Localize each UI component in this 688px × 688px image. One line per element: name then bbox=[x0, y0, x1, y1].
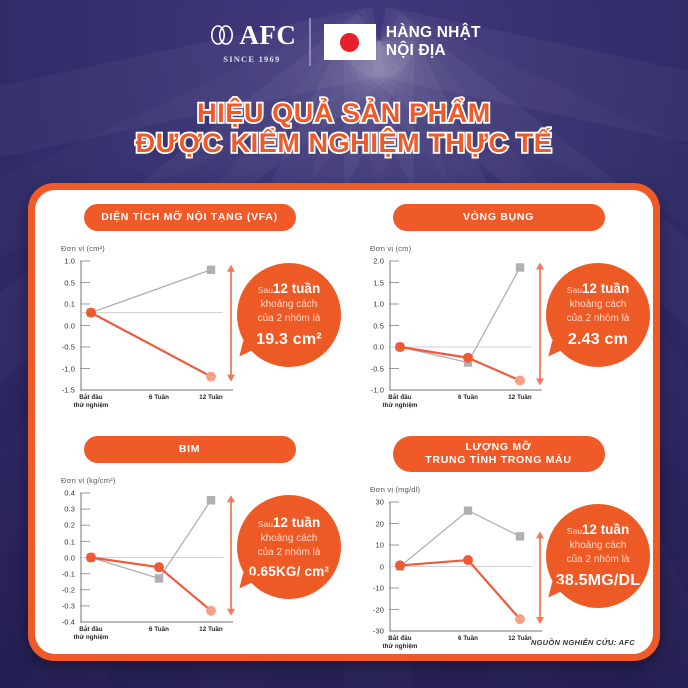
callout-line2: khoảng cách bbox=[567, 298, 630, 312]
charts-card: DIỆN TÍCH MỠ NỘI TẠNG (VFA)Đơn vị (cm²)1… bbox=[28, 183, 660, 661]
callout-line2: khoảng cách bbox=[556, 539, 641, 553]
chart-panel-1: DIỆN TÍCH MỠ NỘI TẠNG (VFA)Đơn vị (cm²)1… bbox=[35, 190, 344, 422]
chart-unit-label: Đơn vị (mg/dl) bbox=[370, 485, 643, 494]
japan-flag-icon bbox=[324, 24, 376, 60]
callout-line3: của 2 nhóm là bbox=[249, 546, 329, 560]
callout-line2: khoảng cách bbox=[256, 298, 322, 312]
x-axis-tick-line2: thử nghiệm bbox=[64, 402, 118, 410]
x-axis-tick-line1: 12 Tuần bbox=[184, 626, 238, 634]
x-axis-tick-line1: 6 Tuần bbox=[441, 635, 495, 643]
page-title: HIỆU QUẢ SẢN PHẨM ĐƯỢC KIỂM NGHIỆM THỰC … bbox=[0, 98, 688, 158]
x-axis-tick-label: 6 Tuần bbox=[132, 394, 186, 402]
japan-origin-line2: NỘI ĐỊA bbox=[386, 42, 446, 59]
charts-grid: DIỆN TÍCH MỠ NỘI TẠNG (VFA)Đơn vị (cm²)1… bbox=[35, 190, 653, 654]
chart-panel-4: LƯỢNG MỠTRUNG TÍNH TRONG MÁUĐơn vị (mg/d… bbox=[344, 422, 653, 654]
x-axis-tick-line1: 6 Tuần bbox=[132, 394, 186, 402]
chart-plot-area: 1.00.50.10.0-0.5-1.0-1.5Bắt đầuthử nghiệ… bbox=[51, 255, 321, 405]
callout-prefix: Sau bbox=[258, 519, 273, 529]
result-callout-bubble: Sau12 tuầnkhoảng cáchcủa 2 nhóm là0.65KG… bbox=[237, 495, 341, 599]
afc-logo: AFC SINCE 1969 bbox=[207, 21, 309, 64]
callout-prefix: Sau bbox=[567, 526, 582, 536]
callout-weeks: 12 tuần bbox=[582, 281, 629, 296]
chart-plot-area: 3020100-10-20-30Bắt đầuthử nghiệm6 Tuần1… bbox=[360, 496, 630, 646]
x-axis-tick-label: 12 Tuần bbox=[184, 394, 238, 402]
afc-monogram-icon bbox=[207, 21, 237, 51]
x-axis-tick-label: Bắt đầuthử nghiệm bbox=[64, 626, 118, 642]
x-axis-tick-line1: 12 Tuần bbox=[184, 394, 238, 402]
result-callout-bubble: Sau12 tuầnkhoảng cáchcủa 2 nhóm là38.5MG… bbox=[546, 504, 650, 608]
chart-title-pill: DIỆN TÍCH MỠ NỘI TẠNG (VFA) bbox=[84, 204, 296, 231]
callout-value: 19.3 cm² bbox=[256, 329, 322, 352]
x-axis-tick-label: 6 Tuần bbox=[441, 635, 495, 643]
x-axis-tick-line2: thử nghiệm bbox=[64, 634, 118, 642]
chart-title-line1: LƯỢNG MỠ bbox=[403, 441, 595, 454]
brand-header: AFC SINCE 1969 HÀNG NHẬT NỘI ĐỊA bbox=[0, 8, 688, 76]
x-axis-tick-label: 6 Tuần bbox=[132, 626, 186, 634]
page-title-line1: HIỆU QUẢ SẢN PHẨM bbox=[0, 98, 688, 128]
chart-plot-area: 2.01.51.00.50.0-0.5-1.0Bắt đầuthử nghiệm… bbox=[360, 255, 630, 405]
chart-panel-2: VÒNG BỤNGĐơn vị (cm)2.01.51.00.50.0-0.5-… bbox=[344, 190, 653, 422]
japan-origin-label: HÀNG NHẬT NỘI ĐỊA bbox=[386, 24, 481, 61]
chart-unit-label: Đơn vị (cm²) bbox=[61, 244, 334, 253]
callout-prefix: Sau bbox=[567, 285, 582, 295]
x-axis-tick-line1: 6 Tuần bbox=[132, 626, 186, 634]
callout-line3: của 2 nhóm là bbox=[556, 553, 641, 567]
chart-unit-label: Đơn vị (cm) bbox=[370, 244, 643, 253]
x-axis-tick-line1: Bắt đầu bbox=[64, 394, 118, 402]
chart-plot-area: 0.40.30.20.10.0-0.1-0.2-0.3-0.4Bắt đầuth… bbox=[51, 487, 321, 637]
afc-since-label: SINCE 1969 bbox=[223, 54, 280, 64]
callout-weeks: 12 tuần bbox=[273, 281, 320, 296]
x-axis-tick-label: Bắt đầuthử nghiệm bbox=[373, 635, 427, 651]
callout-line3: của 2 nhóm là bbox=[567, 312, 630, 326]
chart-title-line2: TRUNG TÍNH TRONG MÁU bbox=[403, 454, 595, 467]
x-axis-tick-label: Bắt đầuthử nghiệm bbox=[373, 394, 427, 410]
gap-arrow-icon bbox=[227, 265, 235, 382]
chart-title-pill: BIM bbox=[84, 436, 296, 463]
gap-arrow-icon bbox=[227, 495, 235, 615]
chart-panel-3: BIMĐơn vị (kg/cm²)0.40.30.20.10.0-0.1-0.… bbox=[35, 422, 344, 654]
result-callout-bubble: Sau12 tuầnkhoảng cáchcủa 2 nhóm là2.43 c… bbox=[546, 263, 650, 367]
x-axis-tick-line1: 6 Tuần bbox=[441, 394, 495, 402]
x-axis-tick-line2: thử nghiệm bbox=[373, 643, 427, 651]
chart-unit-label: Đơn vị (kg/cm²) bbox=[61, 476, 334, 485]
callout-weeks: 12 tuần bbox=[273, 515, 320, 530]
x-axis-tick-label: 6 Tuần bbox=[441, 394, 495, 402]
afc-wordmark: AFC bbox=[239, 22, 296, 49]
page-title-line2: ĐƯỢC KIỂM NGHIỆM THỰC TẾ bbox=[0, 128, 688, 158]
callout-prefix: Sau bbox=[258, 285, 273, 295]
chart-title-pill: LƯỢNG MỠTRUNG TÍNH TRONG MÁU bbox=[393, 436, 605, 472]
x-axis-tick-line1: Bắt đầu bbox=[64, 626, 118, 634]
x-axis-tick-label: 12 Tuần bbox=[184, 626, 238, 634]
x-axis-tick-line1: Bắt đầu bbox=[373, 394, 427, 402]
callout-weeks: 12 tuần bbox=[582, 522, 629, 537]
source-note: NGUỒN NGHIÊN CỨU: AFC bbox=[531, 638, 635, 647]
result-callout-bubble: Sau12 tuầnkhoảng cáchcủa 2 nhóm là19.3 c… bbox=[237, 263, 341, 367]
callout-value: 2.43 cm bbox=[567, 329, 630, 352]
callout-line3: của 2 nhóm là bbox=[256, 312, 322, 326]
x-axis-tick-label: 12 Tuần bbox=[493, 394, 547, 402]
japan-origin-line1: HÀNG NHẬT bbox=[386, 24, 481, 41]
gap-arrow-icon bbox=[536, 532, 544, 625]
chart-title-pill: VÒNG BỤNG bbox=[393, 204, 605, 231]
japan-origin-block: HÀNG NHẬT NỘI ĐỊA bbox=[311, 24, 481, 61]
callout-line2: khoảng cách bbox=[249, 532, 329, 546]
x-axis-tick-label: Bắt đầuthử nghiệm bbox=[64, 394, 118, 410]
x-axis-tick-line1: 12 Tuần bbox=[493, 394, 547, 402]
x-axis-tick-line2: thử nghiệm bbox=[373, 402, 427, 410]
x-axis-tick-line1: Bắt đầu bbox=[373, 635, 427, 643]
gap-arrow-icon bbox=[536, 263, 544, 386]
